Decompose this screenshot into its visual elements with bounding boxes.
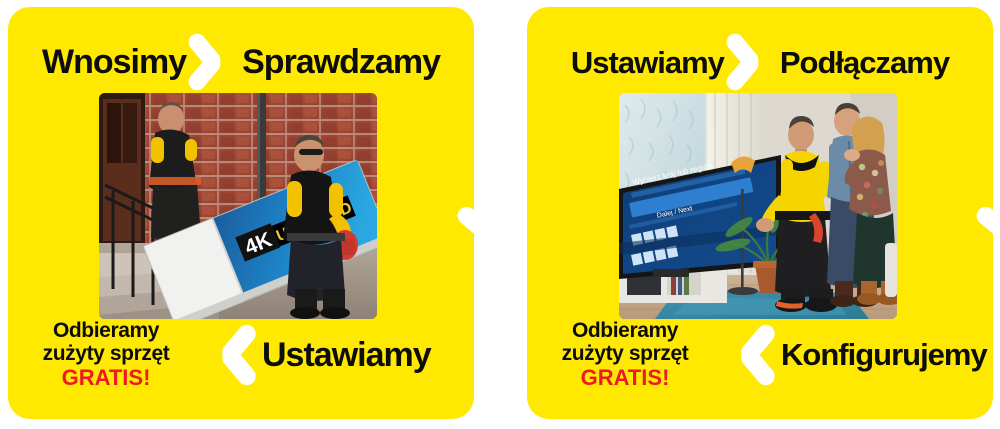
photo-installation-living-room: Wybierz kraj lub region Dalej / Next	[619, 93, 897, 319]
step-label-ustawiamy-bottom: Ustawiamy	[262, 336, 431, 375]
chevron-right-icon	[190, 31, 238, 93]
recycle-line-1: Odbieramy	[533, 320, 717, 343]
chevron-left-icon	[204, 323, 254, 387]
photo-delivery-carry-tv: 4K ULTRA HD	[99, 93, 377, 319]
service-step-panel-left: Wnosimy Sprawdzamy	[8, 7, 474, 419]
chevron-down-icon	[979, 200, 1000, 250]
step-label-ustawiamy-top: Ustawiamy	[571, 47, 724, 78]
step-label-sprawdzamy: Sprawdzamy	[242, 45, 440, 79]
chevron-left-slot-left	[198, 317, 262, 393]
recycle-note-left: Odbieramy zużyty sprzęt GRATIS!	[8, 320, 198, 389]
chevron-right-slot	[724, 31, 780, 93]
chevron-right-slot	[186, 31, 242, 93]
top-step-row-left: Wnosimy Sprawdzamy	[8, 31, 474, 93]
step-label-wnosimy: Wnosimy	[42, 45, 186, 79]
chevron-right-icon	[728, 31, 776, 93]
recycle-gratis-badge: GRATIS!	[533, 366, 717, 390]
recycle-note-right: Odbieramy zużyty sprzęt GRATIS!	[527, 320, 717, 389]
step-label-konfigurujemy: Konfigurujemy	[781, 337, 987, 373]
bottom-step-row-left: Odbieramy zużyty sprzęt GRATIS! Ustawiam…	[8, 317, 474, 393]
chevron-left-icon	[723, 323, 773, 387]
recycle-gratis-badge: GRATIS!	[14, 366, 198, 390]
chevron-left-slot-right	[717, 317, 781, 393]
service-step-panel-right: Ustawiamy Podłączamy	[527, 7, 993, 419]
top-step-row-right: Ustawiamy Podłączamy	[527, 31, 993, 93]
bottom-step-row-right: Odbieramy zużyty sprzęt GRATIS! Konfigur…	[527, 317, 993, 393]
chevron-down-icon	[460, 200, 530, 250]
recycle-line-1: Odbieramy	[14, 320, 198, 343]
promo-banner: Wnosimy Sprawdzamy	[0, 0, 1000, 429]
recycle-line-2: zużyty sprzęt	[533, 343, 717, 366]
recycle-line-2: zużyty sprzęt	[14, 343, 198, 366]
step-label-podlaczamy: Podłączamy	[780, 47, 949, 78]
